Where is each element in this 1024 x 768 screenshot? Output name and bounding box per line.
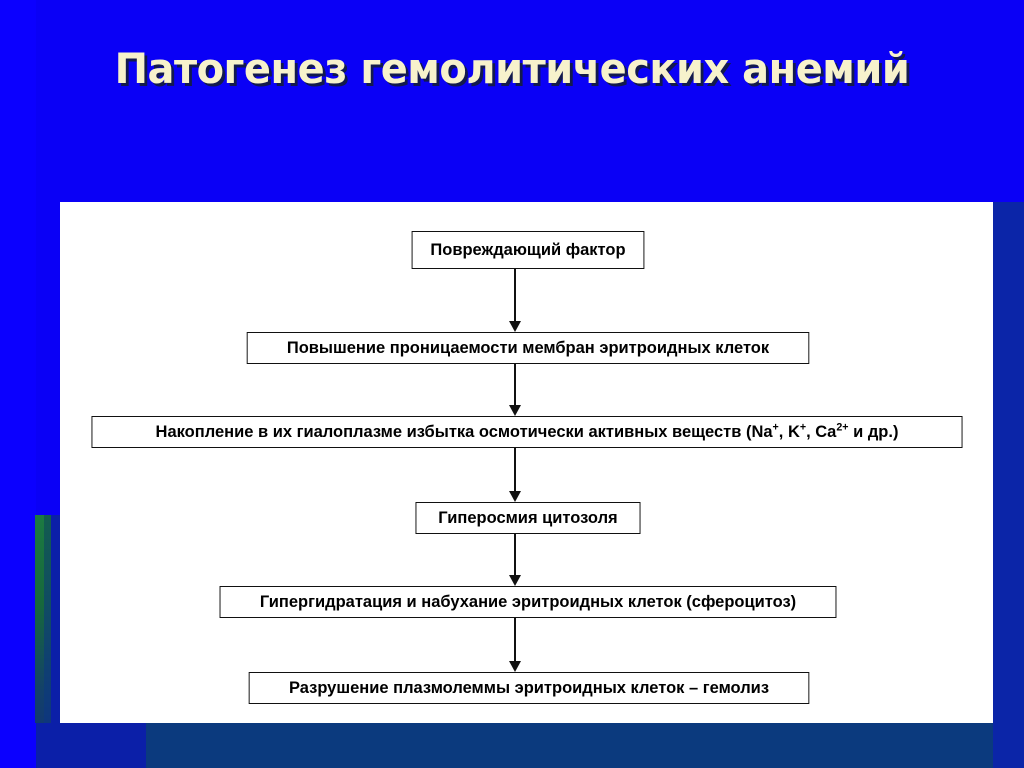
node-3-sup-ca: 2+ xyxy=(836,421,848,433)
bottom-left-bright-stripe xyxy=(0,723,36,768)
flowchart-node-6-label: Разрушение плазмолеммы эритроидных клето… xyxy=(289,679,769,697)
flowchart-arrow-2-3 xyxy=(508,364,522,416)
flowchart-node-2-label: Повышение проницаемости мембран эритроид… xyxy=(287,339,769,357)
flowchart-node-1[interactable]: Повреждающий фактор xyxy=(412,231,645,269)
flowchart-node-2[interactable]: Повышение проницаемости мембран эритроид… xyxy=(247,332,810,364)
node-3-suffix: и др.) xyxy=(849,422,899,441)
flowchart-arrow-5-6 xyxy=(508,618,522,672)
node-3-prefix: Накопление в их гиалоплазме избытка осмо… xyxy=(156,422,773,441)
slide-title: Патогенез гемолитических анемий xyxy=(26,44,999,94)
flowchart-node-5[interactable]: Гипергидратация и набухание эритроидных … xyxy=(220,586,837,618)
node-3-mid2: , Ca xyxy=(806,422,836,441)
flowchart-node-3-label: Накопление в их гиалоплазме избытка осмо… xyxy=(156,423,899,441)
flowchart-arrow-1-2 xyxy=(508,269,522,332)
flowchart-node-4[interactable]: Гиперосмия цитозоля xyxy=(415,502,640,534)
flowchart-arrow-4-5 xyxy=(508,534,522,586)
slide-canvas: Патогенез гемолитических анемий Поврежда… xyxy=(0,0,1024,768)
flowchart-arrow-3-4 xyxy=(508,448,522,502)
node-3-mid1: , K xyxy=(779,422,800,441)
flowchart-node-5-label: Гипергидратация и набухание эритроидных … xyxy=(260,593,796,611)
bottom-navy-band xyxy=(0,723,1024,768)
flowchart-node-4-label: Гиперосмия цитозоля xyxy=(438,509,617,527)
flowchart-node-6[interactable]: Разрушение плазмолеммы эритроидных клето… xyxy=(249,672,810,704)
diagram-panel: Повреждающий фактор Повышение проницаемо… xyxy=(60,202,993,723)
flowchart-node-1-label: Повреждающий фактор xyxy=(430,241,625,259)
flowchart-node-3[interactable]: Накопление в их гиалоплазме избытка осмо… xyxy=(91,416,962,448)
right-blue-band xyxy=(993,202,1024,768)
bottom-left-blue-band xyxy=(36,723,146,768)
flowchart: Повреждающий фактор Повышение проницаемо… xyxy=(60,202,993,723)
left-bright-stripe xyxy=(0,0,36,768)
